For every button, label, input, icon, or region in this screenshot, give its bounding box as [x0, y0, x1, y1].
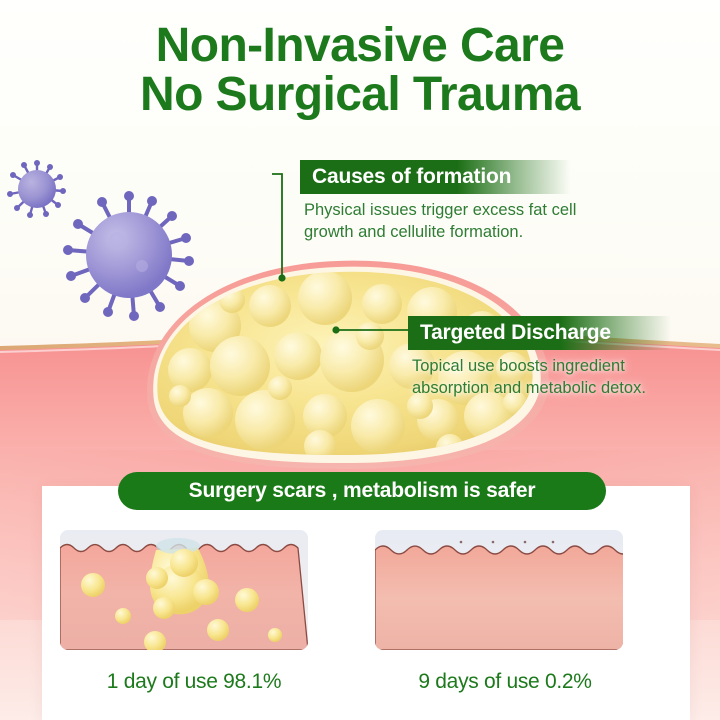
panel-before-treatment — [60, 530, 308, 650]
callout-discharge-body: Topical use boosts ingredient absorption… — [408, 350, 720, 400]
page-title: Non-Invasive Care No Surgical Trauma — [0, 22, 720, 120]
virus-particle-large-icon — [62, 188, 196, 322]
title-line-2: No Surgical Trauma — [0, 71, 720, 120]
callout-causes-of-formation: Causes of formation Physical issues trig… — [300, 160, 640, 244]
panel-after-treatment — [375, 530, 623, 650]
comparison-banner-label: Surgery scars , metabolism is safer — [189, 479, 536, 503]
caption-before: 1 day of use 98.1% — [44, 670, 344, 694]
title-line-1: Non-Invasive Care — [0, 22, 720, 71]
comparison-banner: Surgery scars , metabolism is safer — [118, 472, 606, 510]
infographic-canvas: Non-Invasive Care No Surgical Trauma Cau… — [0, 0, 720, 720]
callout-discharge-label: Targeted Discharge — [408, 316, 671, 350]
callout-causes-body: Physical issues trigger excess fat cell … — [300, 194, 640, 244]
callout-targeted-discharge: Targeted Discharge Topical use boosts in… — [408, 316, 720, 400]
caption-after: 9 days of use 0.2% — [355, 670, 655, 694]
virus-particle-small-icon — [6, 158, 68, 220]
callout-causes-label: Causes of formation — [300, 160, 571, 194]
